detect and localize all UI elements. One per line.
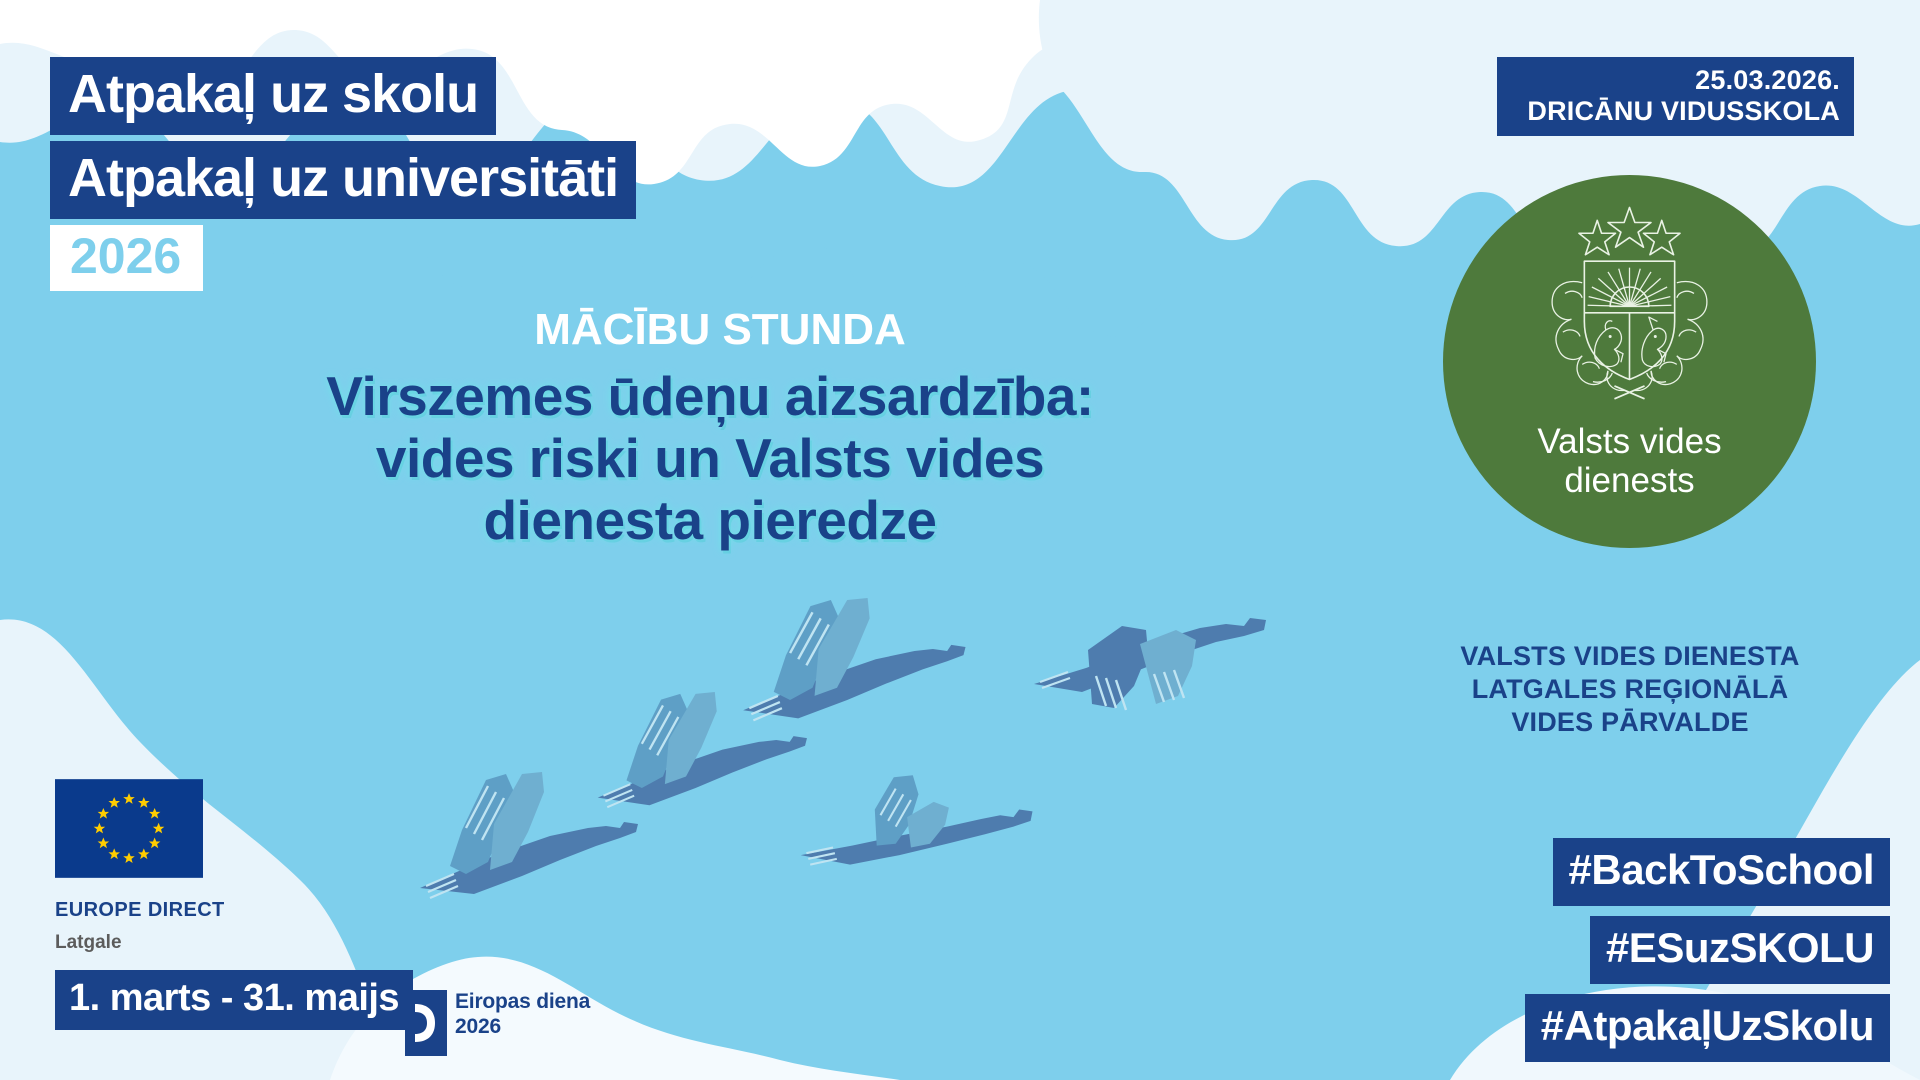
title-line-3: dienesta pieredze xyxy=(140,489,1280,551)
page-title: Virszemes ūdeņu aizsardzība: vides riski… xyxy=(140,365,1280,551)
vvd-department-name: VALSTS VIDES DIENESTA LATGALES REĢIONĀLĀ… xyxy=(1400,640,1860,739)
poster-canvas: Atpakaļ uz skolu Atpakaļ uz universitāti… xyxy=(0,0,1920,1080)
vvd-sub-line3: VIDES PĀRVALDE xyxy=(1400,706,1860,739)
vvd-logo: Valsts vides dienests xyxy=(1443,175,1816,548)
hashtag-es-uz-skolu[interactable]: #ESuzSKOLU xyxy=(1590,916,1890,984)
europe-day-text: Eiropas diena 2026 xyxy=(455,990,590,1040)
europe-direct-title: EUROPE DIRECT xyxy=(55,899,413,922)
europe-day-line2: 2026 xyxy=(455,1015,590,1040)
event-venue: DRICĀNU VIDUSSKOLA xyxy=(1527,96,1840,127)
campaign-header: Atpakaļ uz skolu Atpakaļ uz universitāti… xyxy=(50,57,636,291)
title-line-2: vides riski un Valsts vides xyxy=(140,427,1280,489)
eu-flag-icon xyxy=(55,779,203,878)
campaign-line-university: Atpakaļ uz universitāti xyxy=(50,141,636,219)
campaign-period-badge: 1. marts - 31. maijs xyxy=(55,970,413,1030)
latvian-coat-of-arms-icon xyxy=(1522,201,1737,416)
hashtag-list: #BackToSchool #ESuzSKOLU #AtpakaļUzSkolu xyxy=(1525,838,1890,1062)
hashtag-atpakal-uz-skolu[interactable]: #AtpakaļUzSkolu xyxy=(1525,994,1890,1062)
vvd-logo-name-line2: dienests xyxy=(1537,461,1721,500)
vvd-logo-name: Valsts vides dienests xyxy=(1537,422,1721,500)
vvd-logo-name-line1: Valsts vides xyxy=(1537,422,1721,461)
campaign-year-badge: 2026 xyxy=(50,225,203,291)
europe-direct-block: EUROPE DIRECT Latgale 1. marts - 31. mai… xyxy=(55,779,413,1030)
vvd-sub-line1: VALSTS VIDES DIENESTA xyxy=(1400,640,1860,673)
europe-direct-region: Latgale xyxy=(55,932,413,954)
europe-day-mark-icon xyxy=(405,990,447,1056)
event-date-venue-badge: 25.03.2026. DRICĀNU VIDUSSKOLA xyxy=(1497,57,1854,136)
title-line-1: Virszemes ūdeņu aizsardzība: xyxy=(140,365,1280,427)
campaign-line-school: Atpakaļ uz skolu xyxy=(50,57,496,135)
europe-day-logo: Eiropas diena 2026 xyxy=(405,990,590,1056)
event-date: 25.03.2026. xyxy=(1527,65,1840,96)
europe-day-line1: Eiropas diena xyxy=(455,990,590,1015)
vvd-sub-line2: LATGALES REĢIONĀLĀ xyxy=(1400,673,1860,706)
hashtag-back-to-school[interactable]: #BackToSchool xyxy=(1553,838,1890,906)
lesson-kicker: MĀCĪBU STUNDA xyxy=(0,305,1440,355)
